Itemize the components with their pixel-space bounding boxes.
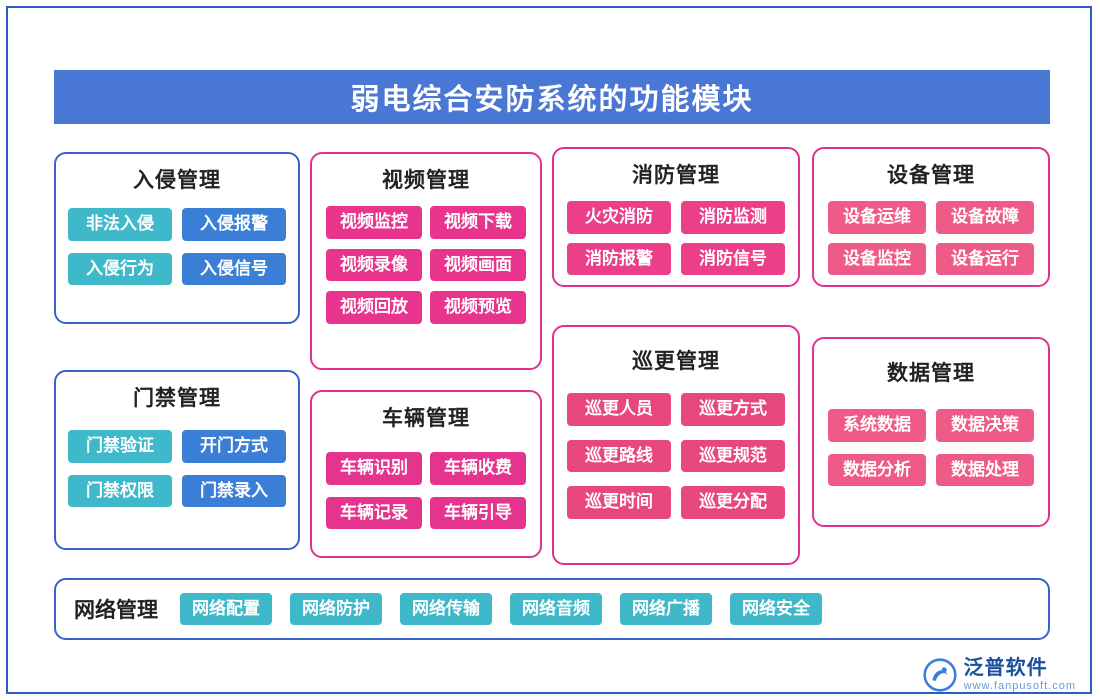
panel-title-fire: 消防管理 [554,159,798,189]
chip-item[interactable]: 非法入侵 [68,208,172,241]
panel-network: 网络管理 网络配置 网络防护 网络传输 网络音频 网络广播 网络安全 [54,578,1050,640]
logo-company-name: 泛普软件 [964,658,1076,678]
chip-item[interactable]: 车辆收费 [430,452,526,485]
chip-group-network: 网络配置 网络防护 网络传输 网络音频 网络广播 网络安全 [180,593,822,626]
chip-item[interactable]: 网络安全 [730,593,822,626]
chip-group-access: 门禁验证 开门方式 门禁权限 门禁录入 [56,412,298,507]
logo-website: www.fanpusoft.com [964,681,1076,692]
chip-group-patrol: 巡更人员 巡更方式 巡更路线 巡更规范 巡更时间 巡更分配 [554,375,798,519]
chip-item[interactable]: 网络音频 [510,593,602,626]
page-title: 弱电综合安防系统的功能模块 [350,76,753,118]
diagram-title-bar: 弱电综合安防系统的功能模块 [54,70,1050,124]
brand-logo: 泛普软件 www.fanpusoft.com [923,658,1076,692]
panel-title-vehicle: 车辆管理 [312,402,540,432]
panel-intrusion: 入侵管理 非法入侵 入侵报警 入侵行为 入侵信号 [54,152,300,324]
panel-title-data: 数据管理 [814,357,1048,387]
chip-item[interactable]: 设备运维 [828,201,926,234]
chip-item[interactable]: 门禁录入 [182,475,286,508]
chip-item[interactable]: 巡更规范 [681,440,785,473]
panel-fire: 消防管理 火灾消防 消防监测 消防报警 消防信号 [552,147,800,287]
chip-item[interactable]: 车辆引导 [430,497,526,530]
chip-item[interactable]: 数据分析 [828,454,926,487]
chip-group-fire: 火灾消防 消防监测 消防报警 消防信号 [554,189,798,275]
chip-item[interactable]: 巡更人员 [567,393,671,426]
chip-item[interactable]: 巡更路线 [567,440,671,473]
chip-item[interactable]: 消防报警 [567,243,671,276]
panel-data: 数据管理 系统数据 数据决策 数据分析 数据处理 [812,337,1050,527]
chip-item[interactable]: 设备监控 [828,243,926,276]
panel-title-device: 设备管理 [814,159,1048,189]
chip-item[interactable]: 入侵信号 [182,253,286,286]
panel-device: 设备管理 设备运维 设备故障 设备监控 设备运行 [812,147,1050,287]
chip-item[interactable]: 数据决策 [936,409,1034,442]
chip-group-video: 视频监控 视频下载 视频录像 视频画面 视频回放 视频预览 [312,194,540,324]
panel-title-video: 视频管理 [312,164,540,194]
chip-item[interactable]: 网络配置 [180,593,272,626]
chip-item[interactable]: 巡更分配 [681,486,785,519]
panel-title-network: 网络管理 [74,594,158,624]
chip-item[interactable]: 入侵行为 [68,253,172,286]
chip-group-device: 设备运维 设备故障 设备监控 设备运行 [814,189,1048,275]
chip-item[interactable]: 视频预览 [430,291,526,324]
chip-item[interactable]: 车辆识别 [326,452,422,485]
chip-item[interactable]: 网络防护 [290,593,382,626]
chip-item[interactable]: 网络广播 [620,593,712,626]
panel-vehicle: 车辆管理 车辆识别 车辆收费 车辆记录 车辆引导 [310,390,542,558]
chip-item[interactable]: 网络传输 [400,593,492,626]
chip-item[interactable]: 视频回放 [326,291,422,324]
diagram-page: 弱电综合安防系统的功能模块 入侵管理 非法入侵 入侵报警 入侵行为 入侵信号 视… [0,0,1100,700]
chip-item[interactable]: 视频录像 [326,249,422,282]
panel-patrol: 巡更管理 巡更人员 巡更方式 巡更路线 巡更规范 巡更时间 巡更分配 [552,325,800,565]
logo-swirl-icon [923,658,957,692]
panel-title-intrusion: 入侵管理 [56,164,298,194]
chip-item[interactable]: 入侵报警 [182,208,286,241]
chip-item[interactable]: 视频下载 [430,206,526,239]
chip-item[interactable]: 数据处理 [936,454,1034,487]
chip-item[interactable]: 巡更方式 [681,393,785,426]
chip-item[interactable]: 门禁验证 [68,430,172,463]
panel-access: 门禁管理 门禁验证 开门方式 门禁权限 门禁录入 [54,370,300,550]
panel-title-patrol: 巡更管理 [554,345,798,375]
chip-item[interactable]: 消防监测 [681,201,785,234]
panel-video: 视频管理 视频监控 视频下载 视频录像 视频画面 视频回放 视频预览 [310,152,542,370]
chip-item[interactable]: 开门方式 [182,430,286,463]
chip-item[interactable]: 车辆记录 [326,497,422,530]
chip-item[interactable]: 视频画面 [430,249,526,282]
chip-item[interactable]: 门禁权限 [68,475,172,508]
chip-item[interactable]: 系统数据 [828,409,926,442]
chip-item[interactable]: 消防信号 [681,243,785,276]
chip-group-vehicle: 车辆识别 车辆收费 车辆记录 车辆引导 [312,432,540,529]
chip-item[interactable]: 设备故障 [936,201,1034,234]
chip-item[interactable]: 火灾消防 [567,201,671,234]
chip-item[interactable]: 视频监控 [326,206,422,239]
chip-item[interactable]: 设备运行 [936,243,1034,276]
chip-item[interactable]: 巡更时间 [567,486,671,519]
chip-group-intrusion: 非法入侵 入侵报警 入侵行为 入侵信号 [56,194,298,285]
logo-text: 泛普软件 www.fanpusoft.com [964,658,1076,692]
panel-title-access: 门禁管理 [56,382,298,412]
chip-group-data: 系统数据 数据决策 数据分析 数据处理 [814,387,1048,486]
